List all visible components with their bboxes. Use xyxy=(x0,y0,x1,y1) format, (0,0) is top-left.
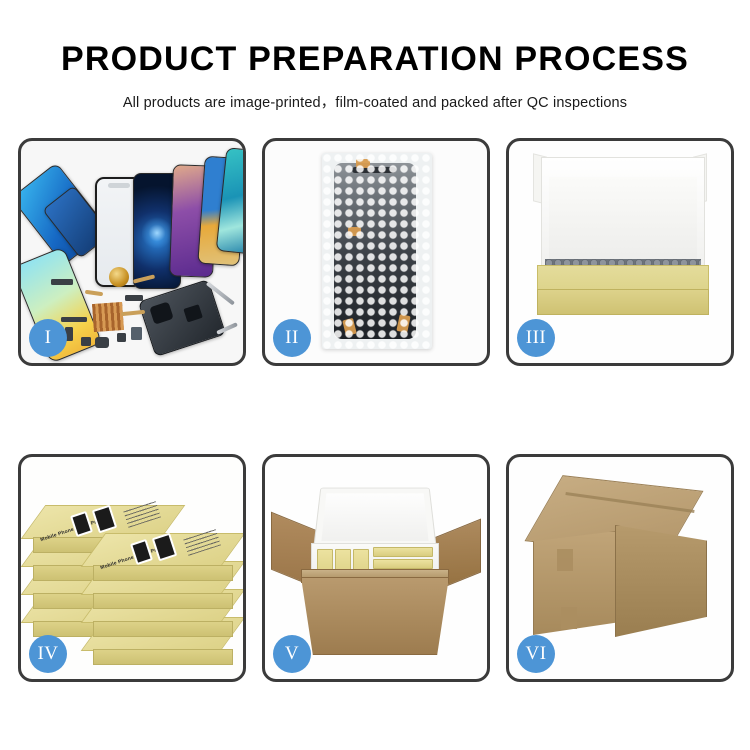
camera-module-part xyxy=(109,267,129,287)
screw-plate-part xyxy=(117,333,126,342)
yellow-box-row xyxy=(373,547,433,557)
step-badge: II xyxy=(273,319,311,357)
foam-liner xyxy=(549,177,697,269)
carton-right-face xyxy=(615,525,707,637)
infographic-page: PRODUCT PREPARATION PROCESS All products… xyxy=(0,0,750,750)
carton-body xyxy=(301,577,449,655)
step-badge: I xyxy=(29,319,67,357)
connector-part xyxy=(51,279,73,285)
box-side xyxy=(93,649,233,665)
process-grid: I II xyxy=(18,138,734,683)
step-badge: V xyxy=(273,635,311,673)
chip-array-part xyxy=(92,302,124,332)
header: PRODUCT PREPARATION PROCESS All products… xyxy=(0,0,750,112)
tape-mark xyxy=(561,607,577,629)
box-side xyxy=(93,621,233,637)
step-badge: VI xyxy=(517,635,555,673)
process-step-6: VI xyxy=(506,454,734,682)
process-step-5: V xyxy=(262,454,490,682)
process-step-2: II xyxy=(262,138,490,366)
bracket-part xyxy=(61,317,87,322)
shield-can-part xyxy=(131,327,142,340)
foam-lid xyxy=(313,488,437,549)
process-step-1: I xyxy=(18,138,246,366)
bubble-texture xyxy=(322,153,432,349)
antenna-part xyxy=(125,295,143,301)
page-title: PRODUCT PREPARATION PROCESS xyxy=(0,42,750,78)
speaker-part xyxy=(81,337,91,346)
process-step-3: III xyxy=(506,138,734,366)
taptic-part xyxy=(95,337,109,348)
flex-cable-part xyxy=(85,290,103,296)
yellow-box-front xyxy=(537,289,709,315)
bubble-wrap-package xyxy=(322,153,432,349)
box-side xyxy=(93,593,233,609)
process-step-4: Mobile Phone Spare Parts xyxy=(18,454,246,682)
yellow-box-row xyxy=(373,559,433,569)
step-badge: III xyxy=(517,319,555,357)
page-subtitle: All products are image-printed，film-coat… xyxy=(0,91,750,112)
box-side xyxy=(93,565,233,581)
tape-mark xyxy=(557,549,573,571)
step-badge: IV xyxy=(29,635,67,673)
